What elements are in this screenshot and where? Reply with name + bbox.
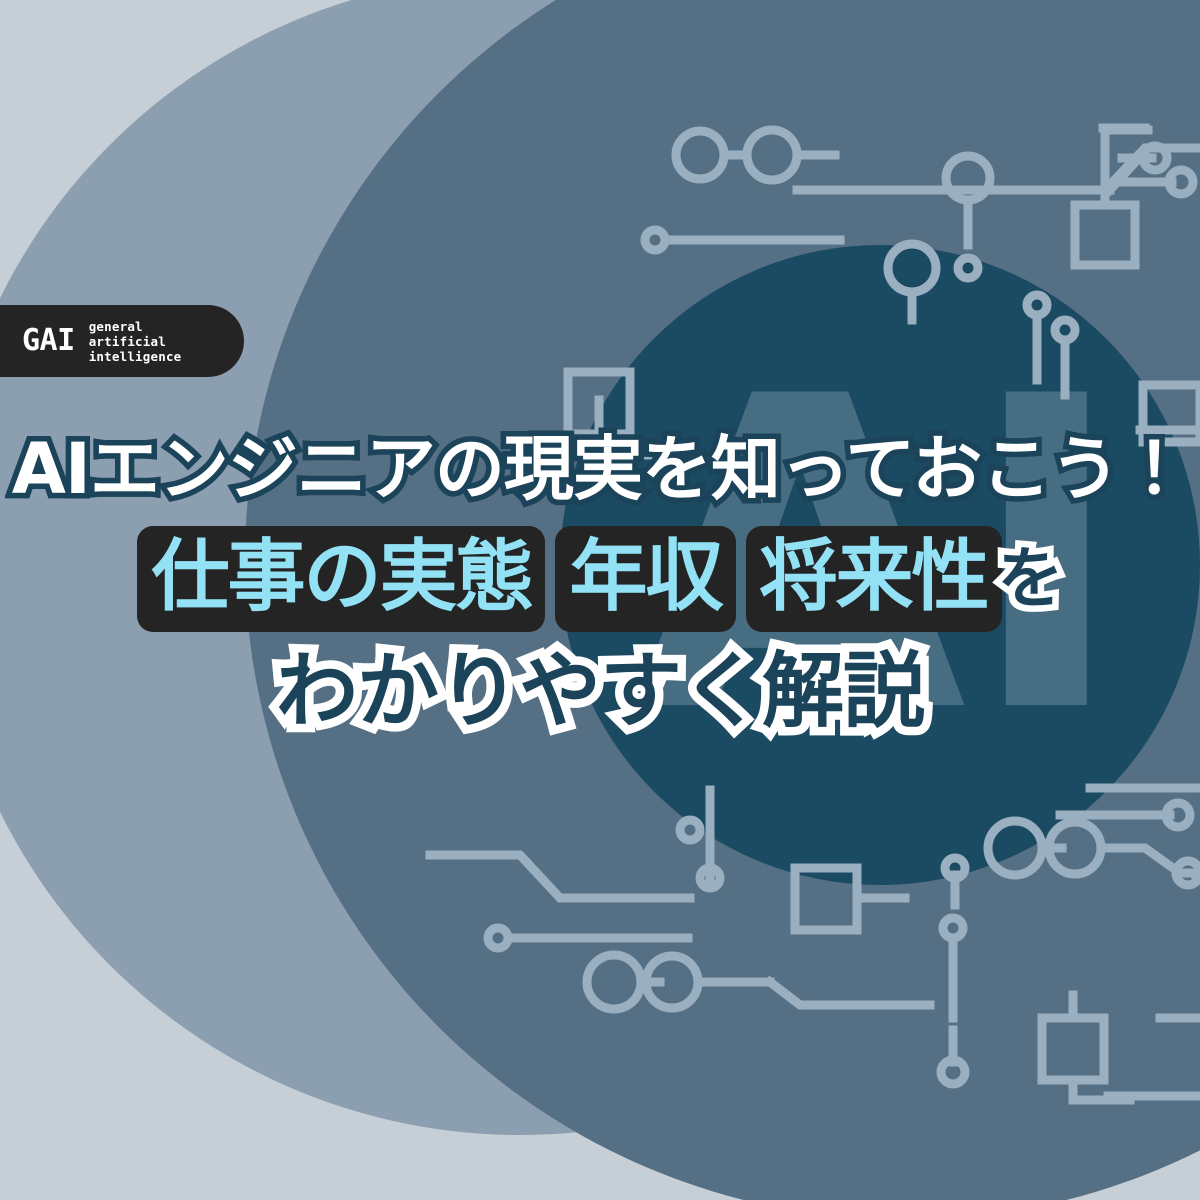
logo-word-3: intelligence (89, 349, 182, 364)
keyword-badge-1-label: 仕事の実態 (151, 534, 531, 620)
keyword-badge-2-label: 年収 (569, 534, 721, 620)
headline-block: AIエンジニアの現実を知っておこう！ 仕事の実態 年収 将来性 を わかりやすく… (0, 430, 1200, 738)
keyword-badge-3: 将来性 (746, 526, 1002, 632)
logo-word-2: artificial (89, 334, 182, 349)
brand-logo-badge[interactable]: GAI general artificial intelligence (0, 305, 244, 377)
headline-line-1: AIエンジニアの現実を知っておこう！ (0, 430, 1200, 508)
logo-mark-text: GAI (22, 326, 75, 356)
keyword-badge-1: 仕事の実態 (137, 526, 545, 632)
headline-line-3: わかりやすく解説 (0, 646, 1200, 738)
logo-word-1: general (89, 319, 182, 334)
keyword-badge-3-label: 将来性 (760, 534, 988, 620)
keyword-badge-2: 年収 (555, 526, 735, 632)
logo-wordmark: general artificial intelligence (89, 319, 182, 364)
headline-line-2-particle: を (998, 536, 1063, 622)
headline-line-2: 仕事の実態 年収 将来性 を (0, 526, 1200, 632)
thumbnail-canvas: AI (0, 0, 1200, 1200)
